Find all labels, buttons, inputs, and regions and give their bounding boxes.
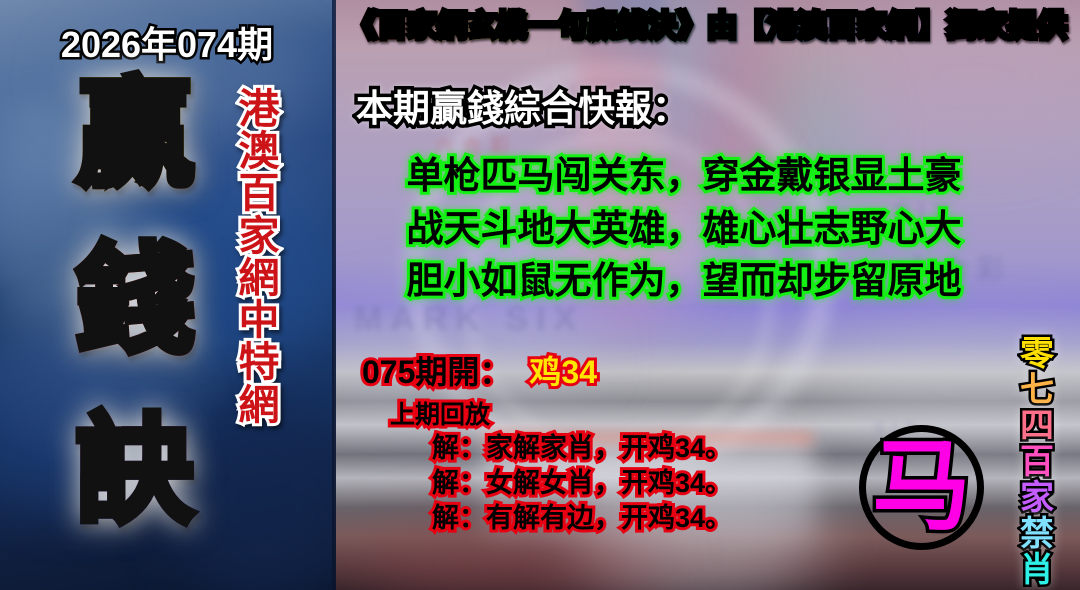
brand-char: 百 [228,172,290,214]
replay-item: 解：女解女肖，开鸡34。 [432,466,732,501]
brand-char: 特 [228,341,290,383]
poem-line: 单枪匹马闯关东，穿金戴银显土豪 [334,150,1034,203]
issue-date-label: 2026年074期 [0,16,334,68]
header-marquee-text: 《百家網玄機一句贏錢決》由【港澳百家網】獨家提供 [334,10,1080,43]
forbidden-char: 禁 [1006,516,1068,552]
poster-root: 2026年074期 贏 錢 訣 港 澳 百 家 網 中 特 網 MARK SIX… [0,0,1080,590]
brand-char: 網 [228,384,290,426]
brand-char: 澳 [228,130,290,172]
zodiac-char: 马 [872,436,971,535]
forbidden-char: 四 [1006,408,1068,444]
previous-issue-replay-block: 上期回放 解：家解家肖，开鸡34。 解：女解女肖，开鸡34。 解：有解有边，开鸡… [390,400,732,537]
brand-char: 港 [228,88,290,130]
brand-char: 家 [228,215,290,257]
panel-divider [332,0,336,590]
replay-title: 上期回放 [390,400,732,431]
brand-char: 網 [228,257,290,299]
title-char-win: 贏 [50,76,220,194]
forbidden-zodiac-vertical-column: 零 七 四 百 家 禁 肖 [1006,336,1068,588]
draw-result-label: 075期開： [362,354,511,390]
forbidden-char: 家 [1006,480,1068,516]
replay-item: 解：有解有边，开鸡34。 [432,501,732,536]
section-headline: 本期贏錢綜合快報： [356,78,689,132]
brand-char: 中 [228,299,290,341]
forbidden-char: 零 [1006,336,1068,372]
poem-line: 胆小如鼠无作为，望而却步留原地 [334,255,1034,308]
draw-result-value: 鸡34 [529,354,597,390]
title-char-money: 錢 [50,242,220,360]
forbidden-char: 百 [1006,444,1068,480]
poem-line: 战天斗地大英雄，雄心壮志野心大 [334,203,1034,256]
poem-block: 单枪匹马闯关东，穿金戴银显土豪 战天斗地大英雄，雄心壮志野心大 胆小如鼠无作为，… [334,150,1034,308]
brand-vertical-column: 港 澳 百 家 網 中 特 網 [228,88,290,426]
forbidden-char: 七 [1006,372,1068,408]
replay-item: 解：家解家肖，开鸡34。 [432,431,732,466]
draw-result-line: 075期開：鸡34 [362,347,597,393]
title-char-trick: 訣 [50,412,220,530]
zodiac-badge: 马 [859,425,984,550]
forbidden-char: 肖 [1006,552,1068,588]
